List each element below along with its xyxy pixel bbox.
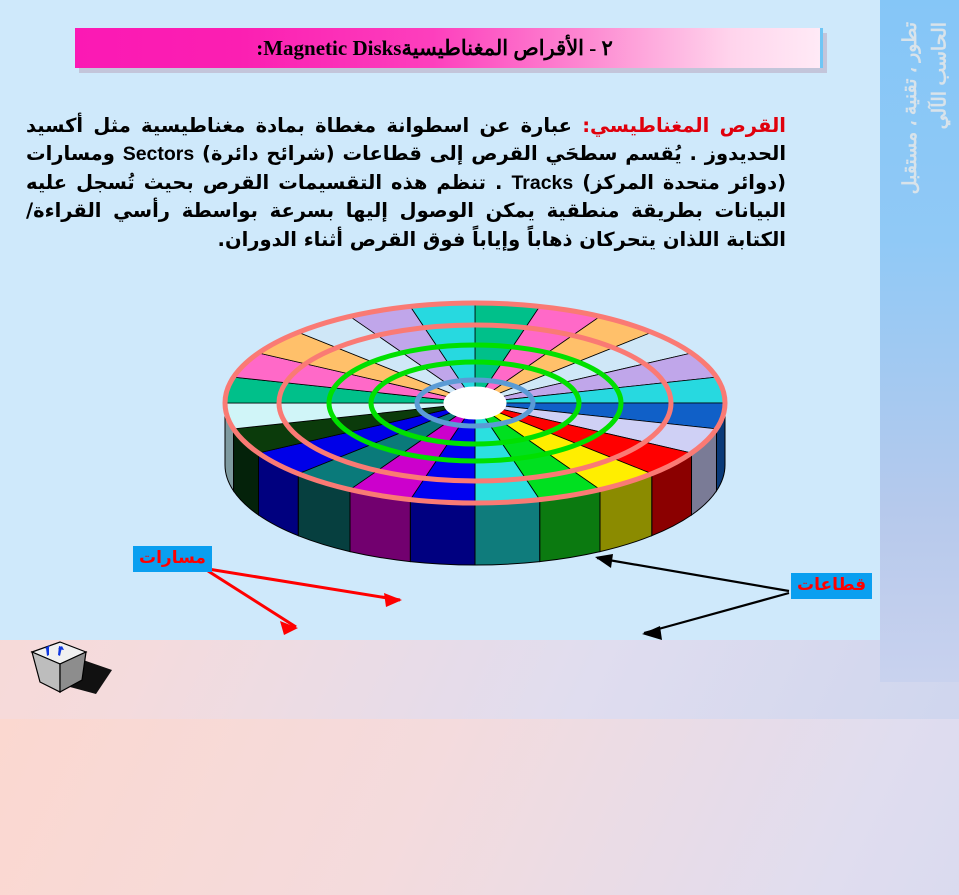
- callout-label-sectors: قطاعات: [791, 573, 872, 599]
- disk-side-slice: [410, 500, 475, 565]
- side-band: تطور ، تقنية ، مستقبل الحاسب الآلي: [880, 0, 959, 682]
- spindle-hub: [444, 387, 506, 419]
- magnetic-disk-diagram: مسارات قطاعات: [0, 255, 882, 625]
- side-band-line-2: الحاسب الآلي: [926, 22, 955, 194]
- side-band-line-1: تطور ، تقنية ، مستقبل: [896, 22, 925, 194]
- title-bar: ٢ - الأقراص المغناطيسيةMagnetic Disks:: [75, 28, 823, 68]
- page-title: ٢ - الأقراص المغناطيسيةMagnetic Disks:: [256, 36, 639, 61]
- spindle-hub-ellipse: [444, 387, 506, 419]
- callout-label-tracks: مسارات: [133, 546, 212, 572]
- paragraph-lead-term: القرص المغناطيسي:: [582, 114, 786, 137]
- term-tracks: Tracks: [511, 172, 573, 194]
- term-sectors: Sectors: [123, 143, 195, 165]
- body-paragraph: القرص المغناطيسي: عبارة عن اسطوانة مغطاة…: [26, 112, 786, 254]
- disk-side-slice: [475, 500, 540, 565]
- keyboard-key-icon: [24, 636, 120, 698]
- side-band-text: تطور ، تقنية ، مستقبل الحاسب الآلي: [896, 22, 955, 194]
- slide-content-panel: ٢ - الأقراص المغناطيسيةMagnetic Disks: ا…: [0, 0, 882, 640]
- disk-pie-chart: [215, 255, 735, 585]
